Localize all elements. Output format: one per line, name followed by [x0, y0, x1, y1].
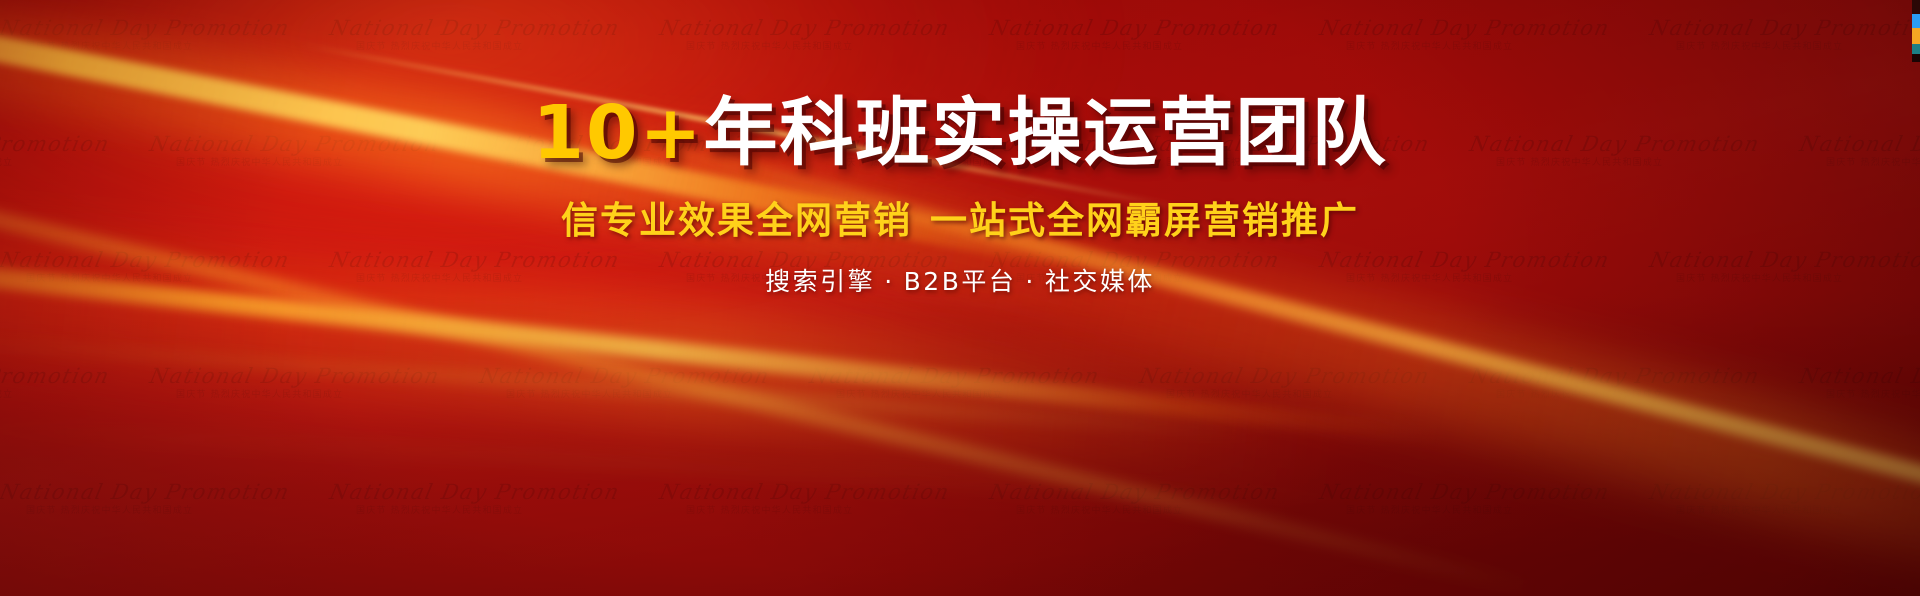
- sliver-segment-blue: [1912, 14, 1920, 28]
- tagline-item-search-engine: 搜索引擎: [765, 267, 875, 296]
- sliver-segment-dark: [1912, 0, 1920, 14]
- watermark-sub-text: 国庆节 热烈庆祝中华人民共和国成立: [1166, 391, 1430, 400]
- watermark-sub-text: 国庆节 热烈庆祝中华人民共和国成立: [1676, 507, 1920, 516]
- watermark-script-text: National Day Promotion: [478, 366, 772, 387]
- headline-number: 10+: [533, 90, 704, 176]
- headline: 10+年科班实操运营团队: [0, 96, 1920, 170]
- subheadline-part-2: 一站式全网霸屏营销推广: [930, 199, 1359, 242]
- watermark-tile: National Day Promotion国庆节 热烈庆祝中华人民共和国成立: [480, 366, 770, 400]
- streak-bottom: [0, 420, 1418, 508]
- promo-banner: National Day Promotion国庆节 热烈庆祝中华人民共和国成立N…: [0, 0, 1920, 596]
- tagline-item-b2b: B2B平台: [904, 267, 1017, 296]
- watermark-sub-text: 国庆节 热烈庆祝中华人民共和国成立: [836, 391, 1100, 400]
- banner-content: 10+年科班实操运营团队 信专业效果全网营销一站式全网霸屏营销推广 搜索引擎·B…: [0, 0, 1920, 294]
- watermark-tile: National Day Promotion国庆节 热烈庆祝中华人民共和国成立: [1140, 366, 1430, 400]
- watermark-tile: National Day Promotion国庆节 热烈庆祝中华人民共和国成立: [1470, 366, 1760, 400]
- watermark-tile: National Day Promotion国庆节 热烈庆祝中华人民共和国成立: [0, 482, 290, 516]
- watermark-tile: National Day Promotion国庆节 热烈庆祝中华人民共和国成立: [330, 482, 620, 516]
- watermark-sub-text: 国庆节 热烈庆祝中华人民共和国成立: [0, 391, 110, 400]
- sliver-segment-teal: [1912, 44, 1920, 54]
- watermark-script-text: National Day Promotion: [1318, 482, 1612, 503]
- watermark-script-text: National Day Promotion: [1468, 366, 1762, 387]
- watermark-script-text: National Day Promotion: [1138, 366, 1432, 387]
- watermark-tile: National Day Promotion国庆节 热烈庆祝中华人民共和国成立: [660, 482, 950, 516]
- headline-text: 年科班实操运营团队: [703, 90, 1387, 176]
- right-edge-sliver: [1912, 0, 1920, 62]
- subheadline: 信专业效果全网营销一站式全网霸屏营销推广: [0, 202, 1920, 239]
- watermark-tile: National Day Promotion国庆节 热烈庆祝中华人民共和国成立: [990, 482, 1280, 516]
- watermark-script-text: National Day Promotion: [1798, 366, 1920, 387]
- tagline: 搜索引擎·B2B平台·社交媒体: [0, 269, 1920, 294]
- watermark-script-text: National Day Promotion: [658, 482, 952, 503]
- watermark-sub-text: 国庆节 热烈庆祝中华人民共和国成立: [686, 507, 950, 516]
- watermark-sub-text: 国庆节 热烈庆祝中华人民共和国成立: [1346, 507, 1610, 516]
- sliver-segment-dark2: [1912, 54, 1920, 62]
- watermark-script-text: National Day Promotion: [0, 482, 292, 503]
- tagline-item-social-media: 社交媒体: [1045, 267, 1155, 296]
- watermark-tile: National Day Promotion国庆节 热烈庆祝中华人民共和国成立: [810, 366, 1100, 400]
- watermark-tile: National Day Promotion国庆节 热烈庆祝中华人民共和国成立: [0, 366, 110, 400]
- watermark-sub-text: 国庆节 热烈庆祝中华人民共和国成立: [176, 391, 440, 400]
- watermark-tile: National Day Promotion国庆节 热烈庆祝中华人民共和国成立: [1650, 482, 1920, 516]
- watermark-tile: National Day Promotion国庆节 热烈庆祝中华人民共和国成立: [150, 366, 440, 400]
- subheadline-part-1: 信专业效果全网营销: [561, 199, 912, 242]
- watermark-sub-text: 国庆节 热烈庆祝中华人民共和国成立: [1496, 391, 1760, 400]
- watermark-script-text: National Day Promotion: [148, 366, 442, 387]
- tagline-separator-2: ·: [1016, 267, 1044, 296]
- watermark-script-text: National Day Promotion: [808, 366, 1102, 387]
- watermark-script-text: National Day Promotion: [0, 366, 112, 387]
- watermark-sub-text: 国庆节 热烈庆祝中华人民共和国成立: [1826, 391, 1920, 400]
- watermark-script-text: National Day Promotion: [1648, 482, 1920, 503]
- watermark-sub-text: 国庆节 热烈庆祝中华人民共和国成立: [1016, 507, 1280, 516]
- watermark-script-text: National Day Promotion: [988, 482, 1282, 503]
- watermark-script-text: National Day Promotion: [328, 482, 622, 503]
- streak-lower: [0, 330, 1277, 440]
- watermark-tile: National Day Promotion国庆节 热烈庆祝中华人民共和国成立: [1320, 482, 1610, 516]
- watermark-sub-text: 国庆节 热烈庆祝中华人民共和国成立: [356, 507, 620, 516]
- watermark-sub-text: 国庆节 热烈庆祝中华人民共和国成立: [26, 507, 290, 516]
- bottom-shade: [0, 296, 1920, 596]
- tagline-separator-1: ·: [875, 267, 903, 296]
- watermark-tile: National Day Promotion国庆节 热烈庆祝中华人民共和国成立: [1800, 366, 1920, 400]
- sliver-segment-amber: [1912, 28, 1920, 44]
- watermark-sub-text: 国庆节 热烈庆祝中华人民共和国成立: [506, 391, 770, 400]
